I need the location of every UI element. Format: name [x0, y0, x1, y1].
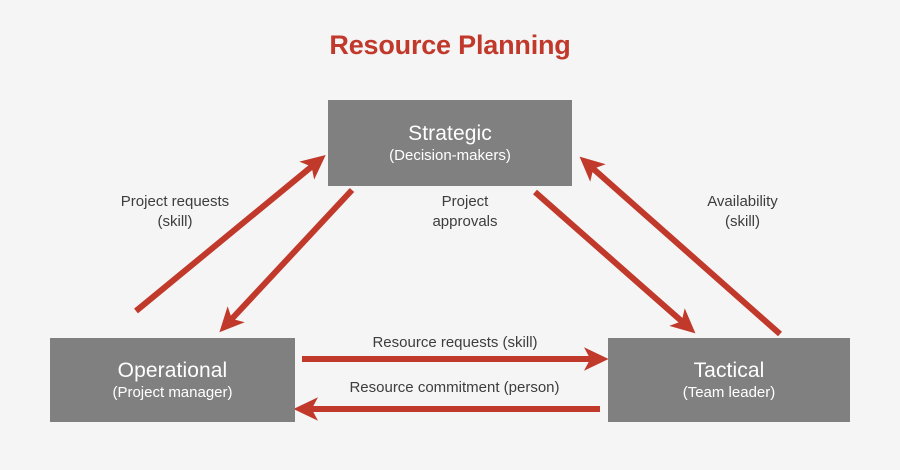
node-strategic-title: Strategic [408, 122, 492, 146]
arrow-strategic-to-tactical [535, 192, 686, 325]
arrow-operational-to-strategic [136, 163, 316, 311]
node-operational-subtitle: (Project manager) [112, 384, 232, 401]
edge-label-project-requests: Project requests (skill) [85, 192, 265, 233]
node-tactical[interactable]: Tactical (Team leader) [608, 338, 850, 422]
node-tactical-title: Tactical [694, 359, 765, 383]
edge-label-resource-commitment: Resource commitment (person) [292, 378, 617, 398]
node-strategic[interactable]: Strategic (Decision-makers) [328, 100, 572, 186]
node-operational-title: Operational [118, 359, 228, 383]
diagram-canvas: Resource Planning Strategic (Decision-ma… [0, 0, 900, 470]
arrow-tactical-to-strategic [589, 165, 780, 334]
node-tactical-subtitle: (Team leader) [683, 384, 776, 401]
node-strategic-subtitle: (Decision-makers) [389, 147, 511, 164]
edge-label-availability: Availability (skill) [665, 192, 820, 233]
edge-label-resource-requests: Resource requests (skill) [300, 333, 610, 353]
edge-label-project-approvals: Project approvals [395, 192, 535, 233]
node-operational[interactable]: Operational (Project manager) [50, 338, 295, 422]
